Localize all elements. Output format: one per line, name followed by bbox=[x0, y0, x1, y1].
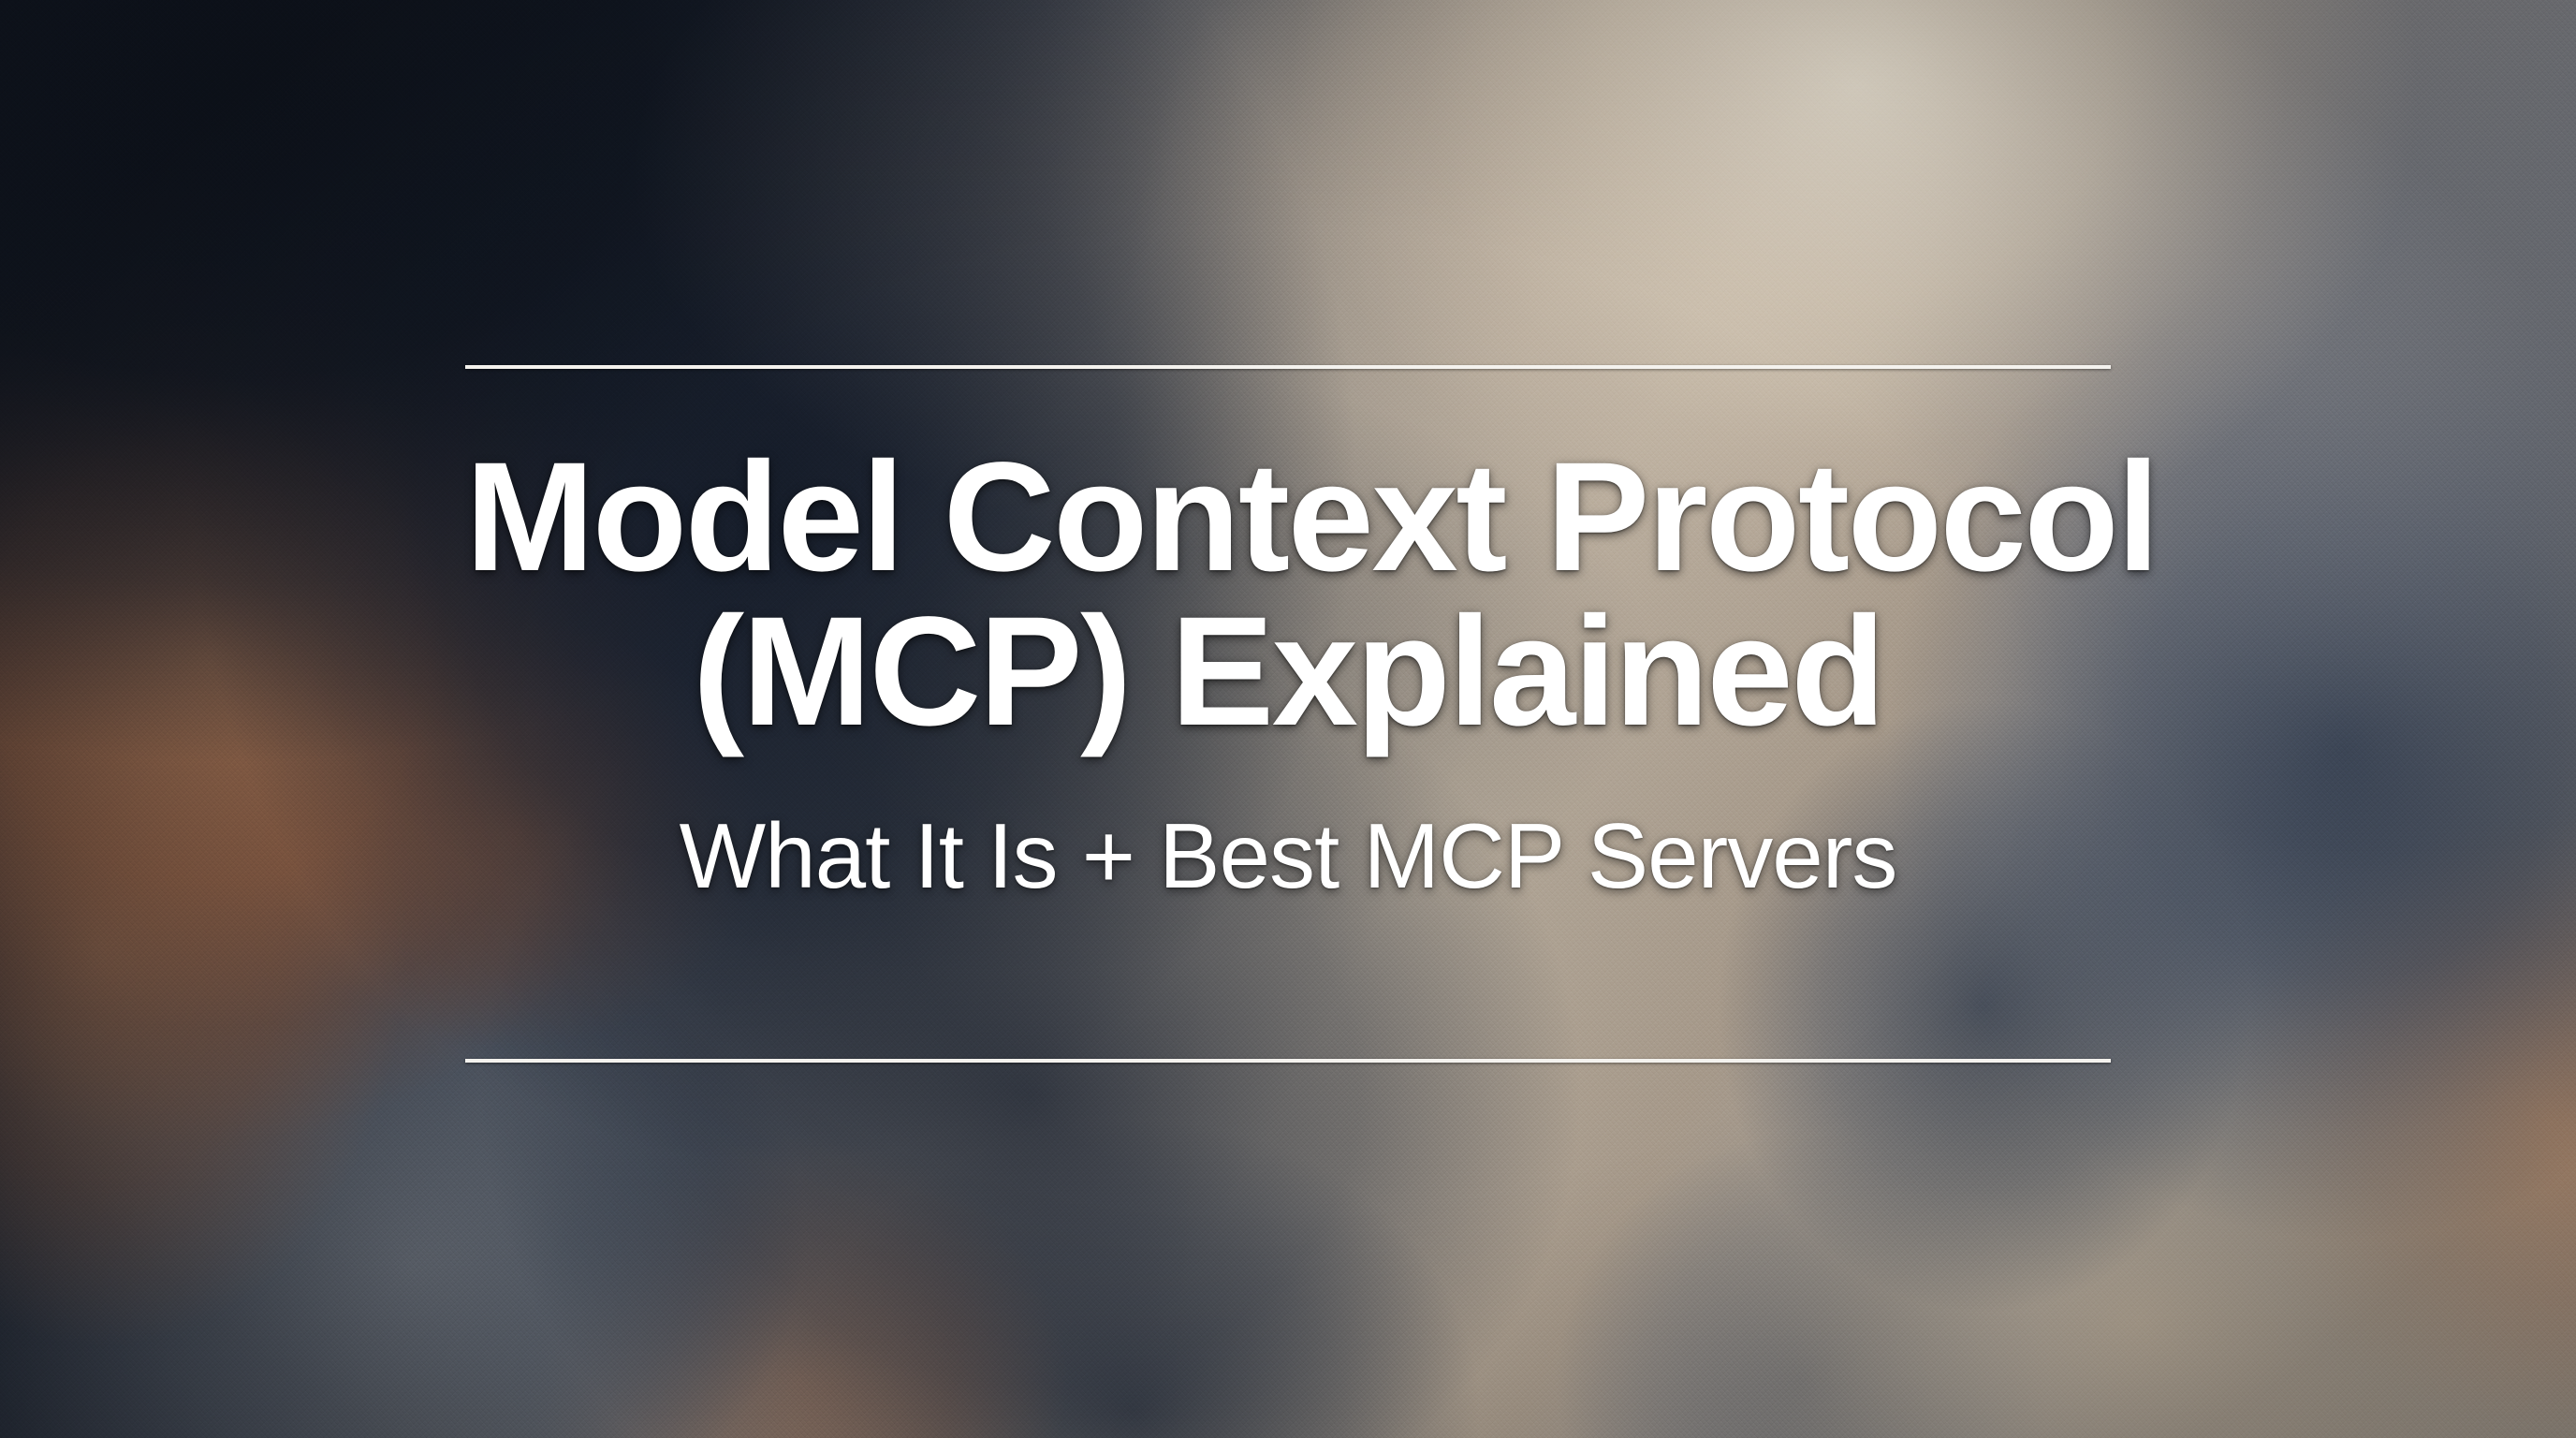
page-subtitle: What It Is + Best MCP Servers bbox=[465, 807, 2111, 904]
title-slide: Model Context Protocol (MCP) Explained W… bbox=[0, 0, 2576, 1438]
headline-line-2: (MCP) Explained bbox=[465, 594, 2111, 749]
headline-line-1: Model Context Protocol bbox=[465, 440, 2111, 594]
headline-block: Model Context Protocol (MCP) Explained W… bbox=[465, 440, 2111, 904]
divider-bottom bbox=[465, 1059, 2111, 1063]
title-content: Model Context Protocol (MCP) Explained W… bbox=[465, 0, 2111, 1438]
divider-top bbox=[465, 365, 2111, 369]
page-title: Model Context Protocol (MCP) Explained bbox=[465, 440, 2111, 749]
